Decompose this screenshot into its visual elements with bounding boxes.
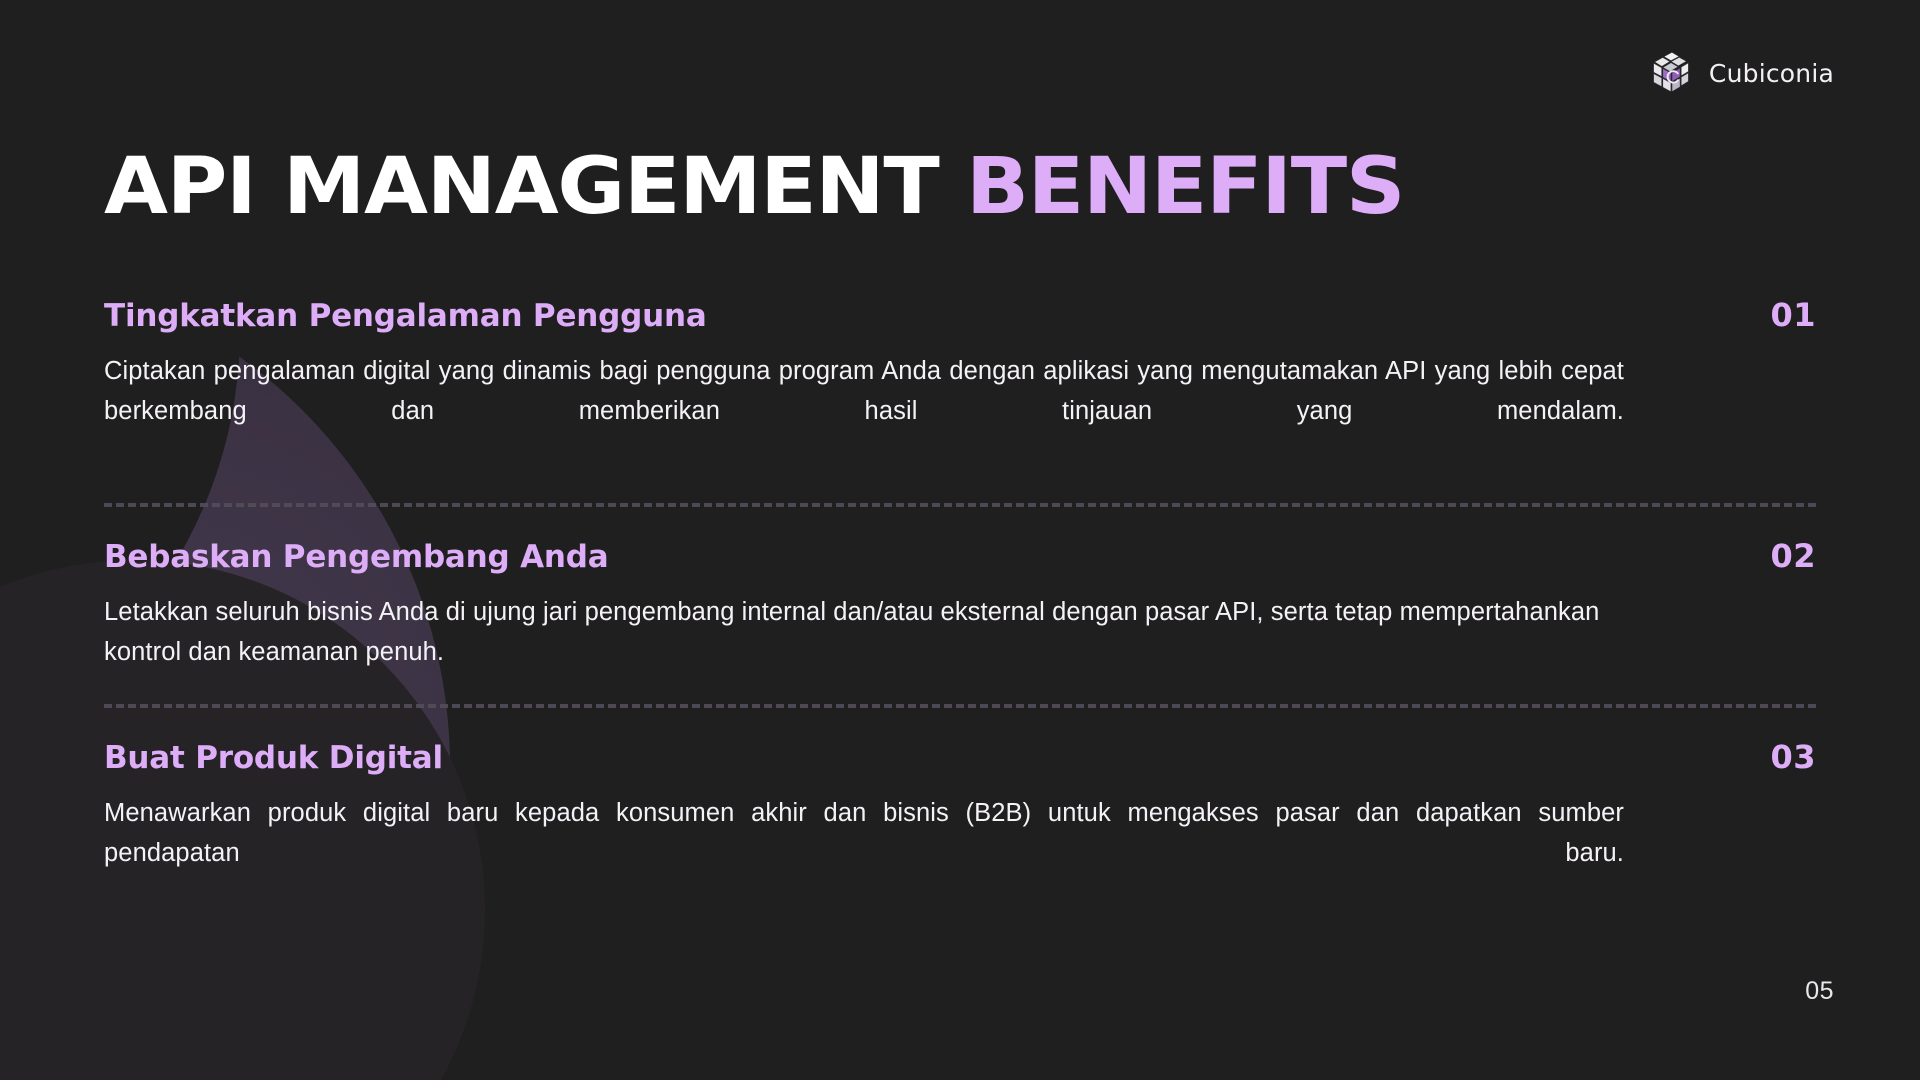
- section-divider: [104, 704, 1816, 708]
- section-divider: [104, 503, 1816, 507]
- benefit-item-number: 03: [1770, 738, 1816, 776]
- page-number: 05: [1805, 977, 1834, 1006]
- slide-canvas: Cubiconia API MANAGEMENT BENEFITS Tingka…: [0, 0, 1920, 1080]
- benefit-item-header: Buat Produk Digital 03: [104, 738, 1816, 776]
- benefit-item: Bebaskan Pengembang Anda 02 Letakkan sel…: [104, 537, 1816, 708]
- brand-logo-group: Cubiconia: [1647, 50, 1834, 96]
- benefit-item-header: Tingkatkan Pengalaman Pengguna 01: [104, 296, 1816, 334]
- benefit-item: Tingkatkan Pengalaman Pengguna 01 Ciptak…: [104, 296, 1816, 507]
- benefit-item-header: Bebaskan Pengembang Anda 02: [104, 537, 1816, 575]
- benefit-item-body: Letakkan seluruh bisnis Anda di ujung ja…: [104, 592, 1624, 672]
- benefit-item-body: Menawarkan produk digital baru kepada ko…: [104, 793, 1624, 913]
- benefits-list: Tingkatkan Pengalaman Pengguna 01 Ciptak…: [104, 296, 1816, 913]
- benefit-item-number: 01: [1770, 296, 1816, 334]
- page-title-accent: [938, 142, 966, 232]
- benefit-item: Buat Produk Digital 03 Menawarkan produk…: [104, 738, 1816, 913]
- benefit-item-title: Buat Produk Digital: [104, 740, 443, 776]
- benefit-item-number: 02: [1770, 537, 1816, 575]
- benefit-item-body: Ciptakan pengalaman digital yang dinamis…: [104, 351, 1624, 471]
- page-title-accent-text: BENEFITS: [966, 142, 1404, 232]
- page-title-primary: API MANAGEMENT: [104, 142, 938, 232]
- page-title: API MANAGEMENT BENEFITS: [104, 141, 1404, 233]
- benefit-item-title: Bebaskan Pengembang Anda: [104, 539, 608, 575]
- brand-name: Cubiconia: [1709, 59, 1834, 88]
- cube-logo-icon: [1647, 50, 1695, 96]
- benefit-item-title: Tingkatkan Pengalaman Pengguna: [104, 298, 707, 334]
